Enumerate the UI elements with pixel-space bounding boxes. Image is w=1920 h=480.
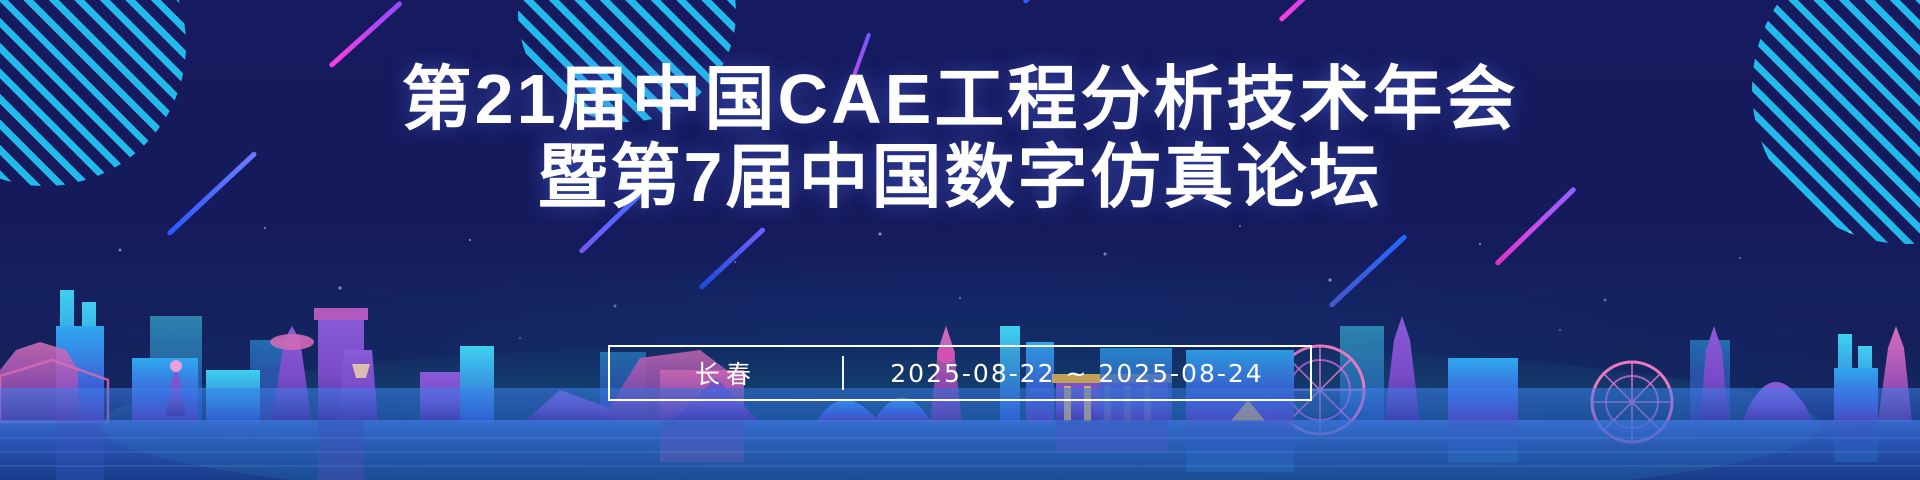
banner-title: 第21届中国CAE工程分析技术年会 暨第7届中国数字仿真论坛 xyxy=(0,60,1920,216)
title-line-2: 暨第7届中国数字仿真论坛 xyxy=(0,138,1920,216)
info-divider xyxy=(842,356,844,390)
event-city: 长春 xyxy=(610,355,842,391)
event-info-box: 长春 2025-08-22 ~ 2025-08-24 xyxy=(608,345,1312,401)
event-date-range: 2025-08-22 ~ 2025-08-24 xyxy=(844,359,1310,388)
title-line-1: 第21届中国CAE工程分析技术年会 xyxy=(0,60,1920,138)
conference-banner: 第21届中国CAE工程分析技术年会 暨第7届中国数字仿真论坛 长春 2025-0… xyxy=(0,0,1920,480)
